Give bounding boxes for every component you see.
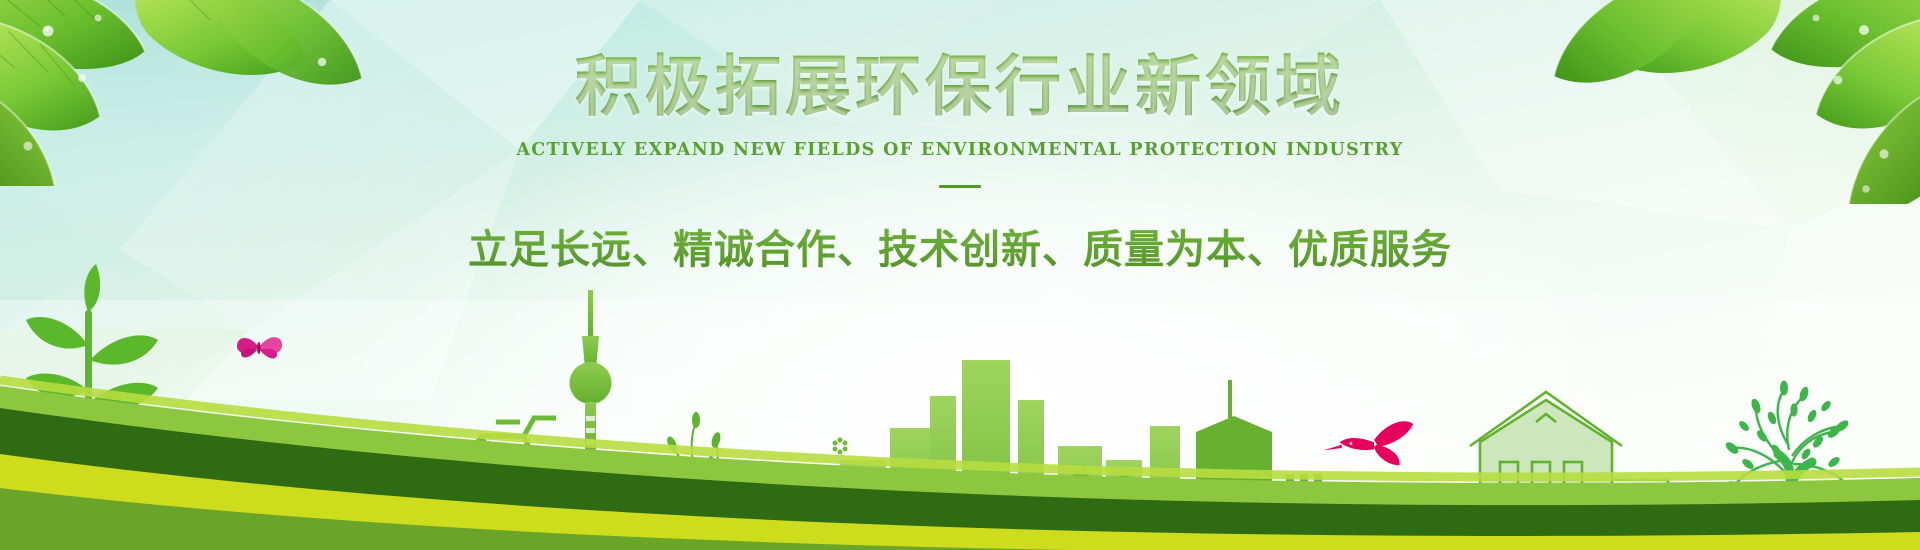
banner-text-block: 积极拓展环保行业新领域 ACTIVELY EXPAND NEW FIELDS O…: [0, 52, 1920, 275]
wave-bands-icon: [0, 350, 1920, 550]
page-title: 积极拓展环保行业新领域: [0, 52, 1920, 121]
subtitle-english: ACTIVELY EXPAND NEW FIELDS OF ENVIRONMEN…: [0, 140, 1920, 160]
divider: [939, 185, 981, 188]
tagline: 立足长远、精诚合作、技术创新、质量为本、优质服务: [0, 217, 1920, 275]
eco-banner: 积极拓展环保行业新领域 ACTIVELY EXPAND NEW FIELDS O…: [0, 0, 1920, 550]
